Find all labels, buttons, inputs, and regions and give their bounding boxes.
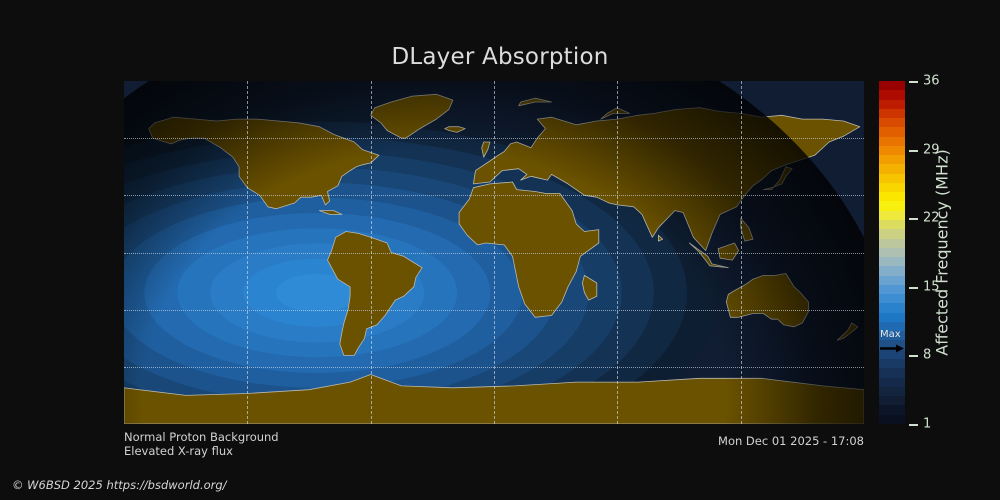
max-marker-label: Max (880, 329, 901, 340)
colorbar-band (879, 294, 905, 303)
landmass (482, 142, 490, 157)
colorbar-band (879, 285, 905, 294)
colorbar-band (879, 100, 905, 109)
colorbar-band (879, 183, 905, 192)
graticule-parallel (124, 138, 864, 139)
colorbar-band (879, 387, 905, 396)
colorbar-band (879, 118, 905, 127)
colorbar-tick (909, 150, 918, 152)
colorbar-band (879, 211, 905, 220)
landmass (837, 323, 858, 340)
colorbar[interactable]: 1815222936 Max (879, 81, 905, 424)
status-proton-background: Normal Proton Background (124, 430, 279, 444)
landmass (726, 274, 808, 327)
max-marker: Max (879, 344, 905, 345)
colorbar-axis-label-text: Affected Frequency (MHz) (933, 149, 952, 355)
colorbar-tick (909, 355, 918, 357)
colorbar-band (879, 229, 905, 238)
colorbar-band (879, 415, 905, 424)
status-xray-flux: Elevated X-ray flux (124, 444, 233, 458)
colorbar-band (879, 378, 905, 387)
colorbar-band (879, 146, 905, 155)
colorbar-band (879, 266, 905, 275)
colorbar-band (879, 396, 905, 405)
landmass (741, 218, 753, 241)
colorbar-band (879, 127, 905, 136)
colorbar-tick (909, 424, 918, 426)
colorbar-band (879, 90, 905, 99)
colorbar-band (879, 155, 905, 164)
landmass (459, 182, 599, 317)
copyright: © W6BSD 2025 https://bsdworld.org/ (12, 478, 227, 492)
landmass (445, 127, 466, 133)
landmass (582, 275, 596, 300)
colorbar-band (879, 359, 905, 368)
colorbar-band (879, 220, 905, 229)
page-title: DLayer Absorption (0, 44, 1000, 70)
landmass (371, 94, 453, 138)
graticule-parallel (124, 367, 864, 368)
colorbar-band (879, 109, 905, 118)
graticule-parallel (124, 310, 864, 311)
colorbar-band (879, 137, 905, 146)
colorbar-band (879, 313, 905, 322)
colorbar-band (879, 81, 905, 90)
landmass (519, 98, 552, 106)
graticule-parallel (124, 195, 864, 196)
colorbar-band (879, 174, 905, 183)
landmass (658, 235, 662, 241)
colorbar-band (879, 276, 905, 285)
colorbar-band (879, 164, 905, 173)
colorbar-band (879, 303, 905, 312)
arrow-right-icon (879, 344, 905, 353)
graticule-parallel (124, 253, 864, 254)
colorbar-tick (909, 218, 918, 220)
colorbar-band (879, 257, 905, 266)
landmass (319, 211, 342, 215)
colorbar-band (879, 192, 905, 201)
colorbar-band (879, 368, 905, 377)
world-absorption-map[interactable] (124, 81, 864, 424)
colorbar-axis-label: Affected Frequency (MHz) (930, 81, 954, 424)
colorbar-gradient (879, 81, 905, 424)
timestamp: Mon Dec 01 2025 - 17:08 (718, 434, 864, 448)
colorbar-band (879, 239, 905, 248)
landmass (328, 232, 423, 356)
colorbar-band (879, 248, 905, 257)
colorbar-band (879, 201, 905, 210)
colorbar-band (879, 405, 905, 414)
colorbar-tick (909, 287, 918, 289)
colorbar-tick (909, 81, 918, 83)
